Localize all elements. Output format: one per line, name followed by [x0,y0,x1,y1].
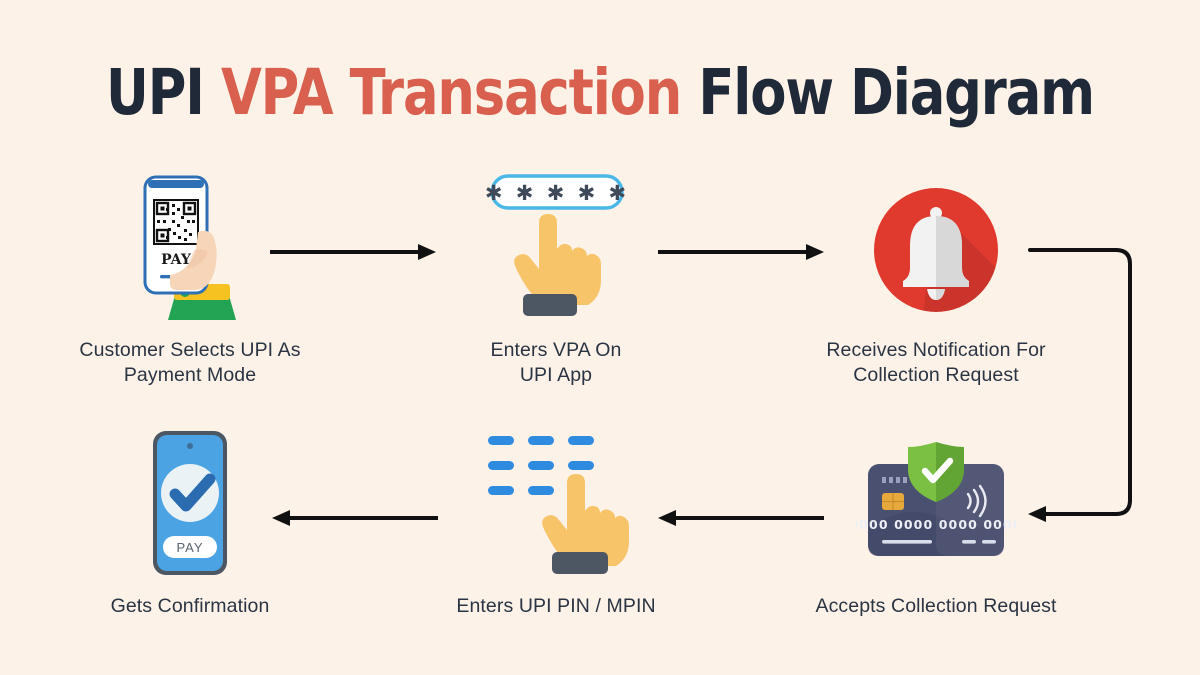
hand-pin-keypad-svg [476,428,636,578]
page-title: UPI VPA Transaction Flow Diagram [42,56,1158,129]
step-caption-5: Enters UPI PIN / MPIN [406,594,706,619]
arrow-step5-to-step6 [268,506,440,530]
card-number: 0000 0000 0000 0000 [856,517,1016,532]
arrow-step4-to-step5 [654,506,826,530]
password-field-value: ✱ ✱ ✱ ✱ ✱ [485,181,629,205]
payment-card-shield-svg: 0000 0000 0000 0000 [856,428,1016,578]
arrow-step2-to-step3 [656,240,828,264]
caption-line-1: Enters UPI PIN / MPIN [406,594,706,619]
phone-confirmation-check-icon: PAY [40,428,340,578]
arrow-step3-to-step4 [1008,232,1178,544]
pay-button-label: PAY [176,540,203,555]
step-caption-4: Accepts Collection Request [786,594,1086,619]
step-node-1: PAY Customer Selects UPI As Payment Mode [40,172,340,388]
phone-qr-pay-svg: PAY [120,172,260,322]
step-caption-6: Gets Confirmation [40,594,340,619]
phone-confirmation-svg: PAY [135,428,245,578]
notification-bell-svg [861,172,1011,322]
title-part-1: UPI [106,56,221,129]
caption-line-1: Customer Selects UPI As [40,338,340,363]
title-part-2: Flow Diagram [681,56,1094,129]
caption-line-1: Accepts Collection Request [786,594,1086,619]
caption-line-1: Gets Confirmation [40,594,340,619]
caption-line-2: Payment Mode [40,363,340,388]
step-caption-1: Customer Selects UPI As Payment Mode [40,338,340,388]
caption-line-1: Enters VPA On [406,338,706,363]
phone-screen-label: PAY [161,252,192,268]
title-accent: VPA Transaction [221,56,681,129]
arrow-step1-to-step2 [268,240,440,264]
caption-line-2: UPI App [406,363,706,388]
step-caption-2: Enters VPA On UPI App [406,338,706,388]
hand-pin-keypad-icon [406,428,706,578]
hand-password-field-svg: ✱ ✱ ✱ ✱ ✱ [476,172,636,322]
diagram-canvas: UPI VPA Transaction Flow Diagram [0,0,1200,675]
step-node-2: ✱ ✱ ✱ ✱ ✱ Enters VPA On UPI App [406,172,706,388]
